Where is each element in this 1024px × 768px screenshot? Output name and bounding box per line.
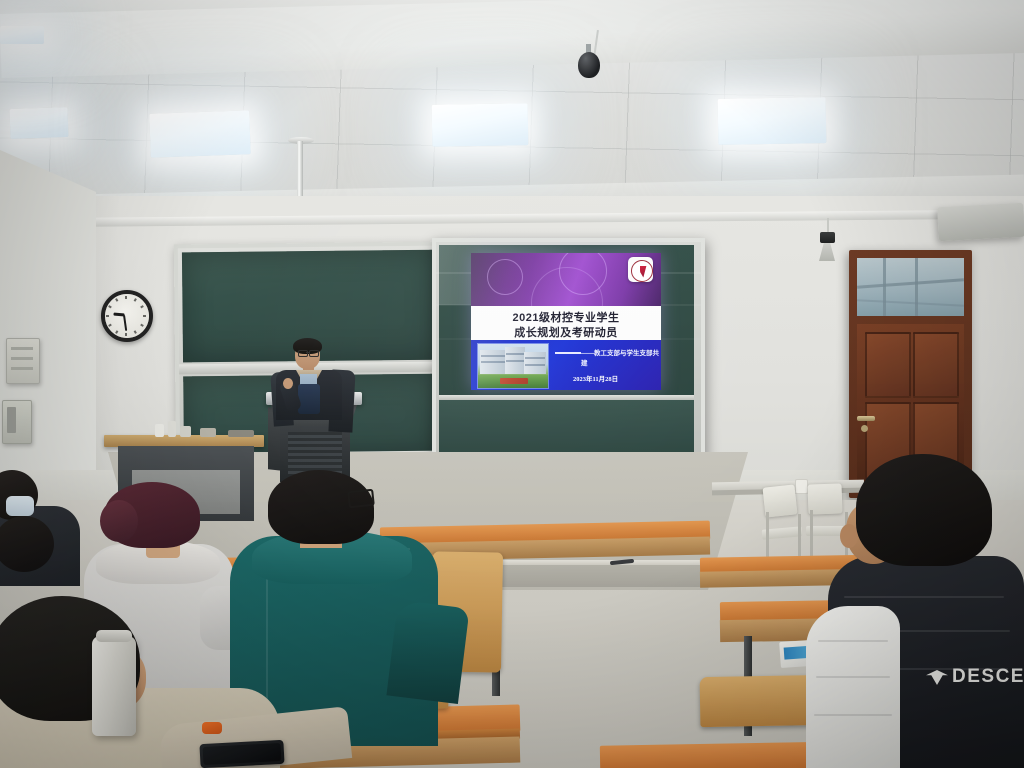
ceiling-light-1 — [9, 107, 68, 139]
face-mask — [6, 496, 34, 516]
lecturer-hand — [283, 378, 293, 389]
door-lock[interactable] — [861, 425, 868, 432]
slide-title-band: 2021级材控专业学生 成长规划及考研动员 — [471, 306, 661, 340]
emblem-mark — [640, 266, 647, 278]
jacket-seam — [266, 568, 268, 718]
orange-object — [202, 722, 222, 734]
dome-security-camera-icon — [578, 52, 600, 78]
wall-socket — [795, 479, 808, 494]
student-glasses — [347, 489, 375, 509]
lecturer-glasses — [309, 350, 319, 357]
photo-building — [524, 352, 546, 374]
desk-item-paper — [200, 428, 216, 437]
intercom-box — [2, 400, 32, 444]
slide-header-band — [471, 253, 661, 306]
desk-item-box — [180, 426, 191, 437]
slide-decor-ring — [487, 259, 523, 295]
desk-item-bottle — [168, 421, 176, 437]
phone-screen[interactable] — [203, 743, 282, 765]
ceiling-light-2 — [149, 110, 250, 157]
ceiling-light-3 — [432, 103, 529, 147]
lectern-vent-grille — [288, 432, 342, 474]
slide-subtitle-dash — [555, 352, 581, 354]
slide-subtitle: ——教工支部与学生支部共建 — [581, 347, 659, 367]
electrical-panel — [6, 338, 40, 384]
ceiling-light-4 — [718, 97, 827, 145]
slide-date: 2023年11月28日 — [573, 373, 657, 383]
university-emblem — [628, 257, 653, 282]
projection-board: 2021级材控专业学生 成长规划及考研动员 — [432, 238, 705, 479]
smartphone[interactable] — [199, 740, 284, 768]
emblem-ring — [631, 260, 653, 282]
wall-security-camera-icon — [820, 232, 835, 243]
jacket-brand-text: DESCE — [952, 666, 1024, 688]
slide-title-line-2: 成长规划及考研动员 — [471, 324, 661, 340]
door-panel — [865, 332, 911, 398]
thermos-bottle — [92, 636, 136, 736]
campus-building-photo — [477, 343, 549, 389]
student-arm — [386, 600, 469, 704]
photo-campus-sign — [500, 378, 528, 384]
wall-speaker — [937, 203, 1024, 241]
door-handle[interactable] — [857, 416, 875, 421]
lecturer-vest — [298, 384, 320, 414]
classroom-photo: 2021级材控专业学生 成长规划及考研动员 — [0, 0, 1024, 768]
wall-clock — [101, 290, 153, 342]
door-transom-glass — [857, 258, 964, 316]
bottle-cap — [96, 630, 132, 642]
projected-slide: 2021级材控专业学生 成长规划及考研动员 — [471, 253, 661, 390]
desk-item-eraser — [228, 430, 254, 437]
slide-footer-band: ——教工支部与学生支部共建 2023年11月28日 — [471, 340, 661, 390]
student-hair-bun — [100, 500, 138, 542]
ceiling-light-5 — [0, 26, 44, 44]
student-hair — [856, 454, 992, 566]
door-panel — [913, 332, 959, 398]
lecturer-glasses-bridge — [306, 352, 310, 353]
intercom-slot — [7, 407, 16, 433]
desk-item-bottle — [155, 424, 164, 437]
jacket-white-sleeve — [806, 606, 900, 768]
slide-title-line-1: 2021级材控专业学生 — [471, 309, 661, 325]
